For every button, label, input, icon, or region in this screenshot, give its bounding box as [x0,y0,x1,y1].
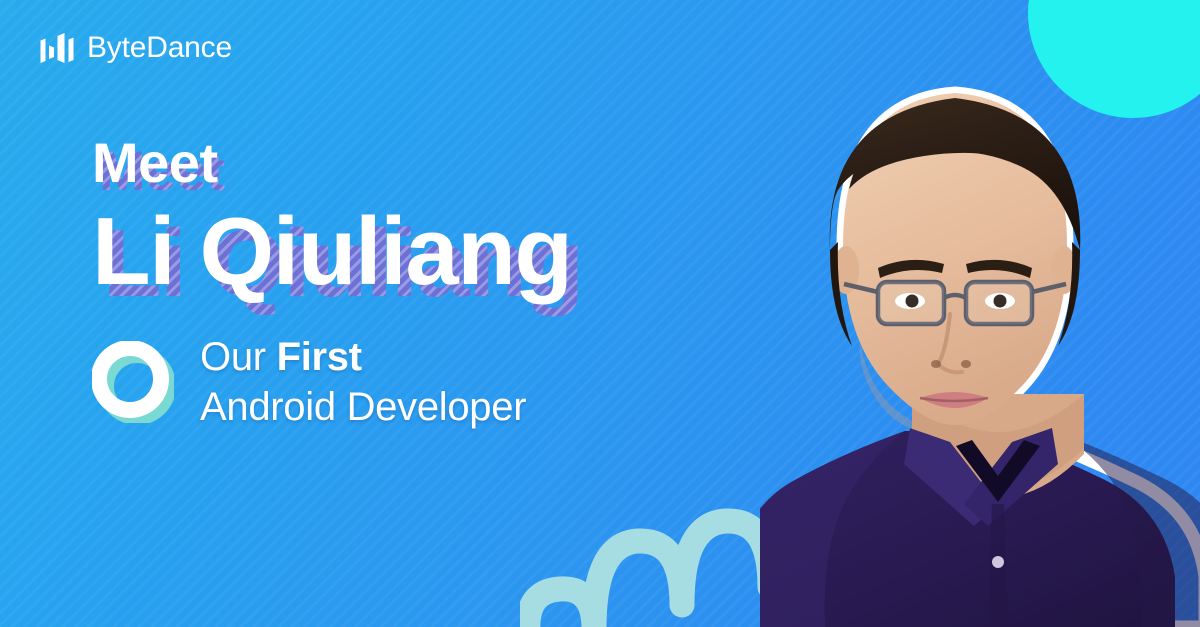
subtitle-line-1: Our First [200,332,526,382]
subtitle-row: Our First Android Developer [92,332,571,432]
person-portrait [760,42,1200,627]
eyebrow-text: Meet [92,132,571,194]
eyebrow-wrap: Meet Meet [92,132,571,194]
subtitle-line-1-light: Our [200,335,277,379]
promo-banner: ByteDance Meet Meet Li Qiuliang Li Qiuli… [0,0,1200,627]
bytedance-logo[interactable]: ByteDance [40,33,232,63]
subtitle-lines: Our First Android Developer [200,332,526,432]
person-name: Li Qiuliang [92,198,571,306]
headline-block: Meet Meet Li Qiuliang Li Qiuliang Our Fi… [92,132,571,432]
subtitle-line-2: Android Developer [200,382,526,432]
ring-icon [92,341,174,423]
bytedance-bars-icon [40,33,74,63]
name-wrap: Li Qiuliang Li Qiuliang [92,198,571,306]
bytedance-wordmark: ByteDance [87,33,232,63]
subtitle-line-1-bold: First [277,335,362,379]
